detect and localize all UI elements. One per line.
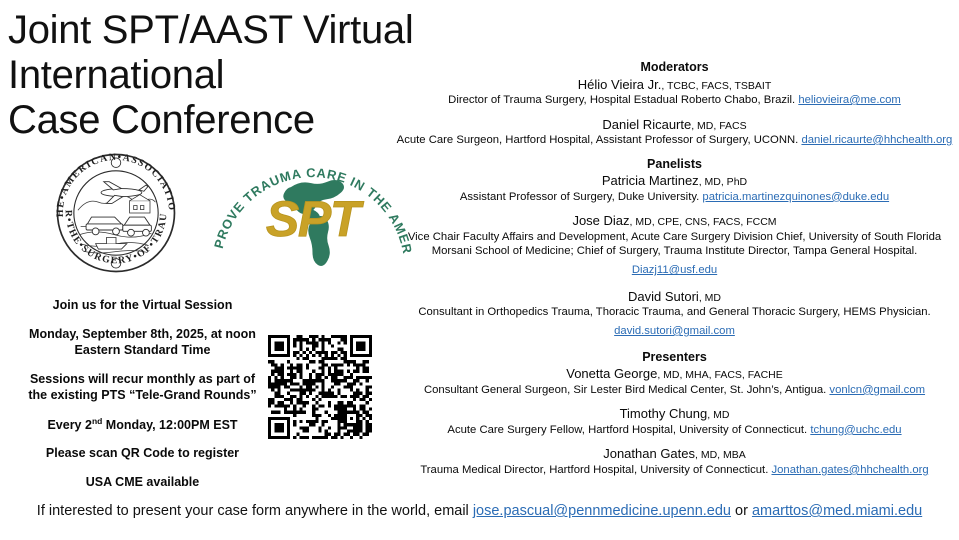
person-name: Daniel Ricaurte, MD, FACS [390, 117, 959, 133]
person-entry: Timothy Chung, MDAcute Care Surgery Fell… [390, 406, 959, 437]
page-title: Joint SPT/AAST Virtual International Cas… [8, 8, 428, 142]
spt-wordmark: SPT [266, 191, 365, 247]
footer-email-2[interactable]: amarttos@med.miami.edu [752, 503, 922, 519]
svg-text:SPT: SPT [266, 191, 365, 247]
session-line-join: Join us for the Virtual Session [0, 297, 285, 314]
person-name: Vonetta George, MD, MHA, FACS, FACHE [390, 366, 959, 382]
person-credentials: , TCBC, FACS, TSBAIT [661, 80, 771, 92]
session-line-recurrence-note: Sessions will recur monthly as part of t… [0, 371, 285, 404]
footer-separator: or [731, 503, 752, 519]
person-name: Hélio Vieira Jr., TCBC, FACS, TSBAIT [390, 77, 959, 93]
person-entry: Hélio Vieira Jr., TCBC, FACS, TSBAITDire… [390, 77, 959, 108]
spt-logo: TO IMPROVE TRAUMA CARE IN THE AMERICAS S… [210, 152, 415, 267]
aast-seal-logo: THE•AMERICAN•ASSOCIATION• •FOR•THE•SURGE… [48, 145, 184, 281]
person-entry: Jonathan Gates, MD, MBATrauma Medical Di… [390, 446, 959, 477]
logo-row: THE•AMERICAN•ASSOCIATION• •FOR•THE•SURGE… [30, 140, 390, 290]
person-email-link[interactable]: david.sutori@gmail.com [614, 325, 735, 337]
person-entry: Daniel Ricaurte, MD, FACSAcute Care Surg… [390, 117, 959, 148]
person-name-text: Patricia Martinez [602, 173, 699, 188]
session-line-qr-instruction: Please scan QR Code to register [0, 445, 285, 462]
person-name-text: Jonathan Gates [603, 446, 695, 461]
session-info-block: Join us for the Virtual Session Monday, … [0, 297, 285, 490]
person-affiliation: Acute Care Surgeon, Hartford Hospital, A… [390, 133, 959, 148]
person-email-link[interactable]: Diazj11@usf.edu [632, 264, 717, 276]
person-credentials: , MD [707, 409, 729, 421]
session-line-cme: USA CME available [0, 474, 285, 491]
person-name-text: Jose Diaz [572, 213, 629, 228]
person-name: David Sutori, MD [390, 289, 959, 305]
footer-cta: If interested to present your case form … [0, 503, 959, 520]
person-entry: Vonetta George, MD, MHA, FACS, FACHECons… [390, 366, 959, 397]
person-affiliation: Acute Care Surgery Fellow, Hartford Hosp… [390, 423, 959, 438]
person-entry: David Sutori, MDConsultant in Orthopedic… [390, 289, 959, 341]
person-affiliation: Morsani School of Medicine; Chief of Sur… [390, 244, 959, 259]
person-affiliation: Consultant General Surgeon, Sir Lester B… [390, 383, 959, 398]
person-credentials: , MD [699, 292, 721, 304]
person-email-link[interactable]: Jonathan.gates@hhchealth.org [771, 464, 928, 476]
person-email-link[interactable]: tchung@uchc.edu [810, 424, 901, 436]
person-credentials: , MD, FACS [691, 120, 746, 132]
person-credentials: , MD, CPE, CNS, FACS, FCCM [630, 216, 777, 228]
section-heading-presenters: Presenters [390, 350, 959, 366]
person-name: Jonathan Gates, MD, MBA [390, 446, 959, 462]
recurrence-ordinal-suffix: nd [92, 416, 102, 426]
person-email-link[interactable]: daniel.ricaurte@hhchealth.org [801, 134, 952, 146]
person-email-line: david.sutori@gmail.com [390, 320, 959, 341]
person-email-link[interactable]: vonlcn@gmail.com [829, 384, 925, 396]
person-name: Timothy Chung, MD [390, 406, 959, 422]
person-affiliation: Trauma Medical Director, Hartford Hospit… [390, 463, 959, 478]
person-name-text: David Sutori [628, 289, 699, 304]
footer-email-1[interactable]: jose.pascual@pennmedicine.upenn.edu [473, 503, 731, 519]
recurrence-prefix: Every 2 [47, 418, 91, 432]
person-name-text: Hélio Vieira Jr. [578, 77, 662, 92]
person-affiliation: Vice Chair Faculty Affairs and Developme… [390, 230, 959, 245]
person-email-line: Diazj11@usf.edu [390, 259, 959, 280]
person-credentials: , MD, MBA [695, 449, 746, 461]
person-email-link[interactable]: heliovieira@me.com [798, 94, 901, 106]
person-name: Jose Diaz, MD, CPE, CNS, FACS, FCCM [390, 213, 959, 229]
person-credentials: , MD, MHA, FACS, FACHE [657, 369, 782, 381]
recurrence-suffix: Monday, 12:00PM EST [102, 418, 237, 432]
section-heading-panelists: Panelists [390, 157, 959, 173]
person-name-text: Daniel Ricaurte [602, 117, 691, 132]
session-line-every-2nd-monday: Every 2nd Monday, 12:00PM EST [0, 416, 285, 434]
person-name-text: Vonetta George [566, 366, 657, 381]
person-entry: Jose Diaz, MD, CPE, CNS, FACS, FCCMVice … [390, 213, 959, 280]
person-credentials: , MD, PhD [699, 176, 747, 188]
people-column: ModeratorsHélio Vieira Jr., TCBC, FACS, … [390, 60, 959, 478]
section-heading-moderators: Moderators [390, 60, 959, 76]
person-name: Patricia Martinez, MD, PhD [390, 173, 959, 189]
person-affiliation: Consultant in Orthopedics Trauma, Thorac… [390, 305, 959, 320]
person-affiliation: Assistant Professor of Surgery, Duke Uni… [390, 190, 959, 205]
person-email-link[interactable]: patricia.martinezquinones@duke.edu [702, 191, 889, 203]
person-name-text: Timothy Chung [620, 406, 708, 421]
footer-text: If interested to present your case form … [37, 503, 473, 519]
person-entry: Patricia Martinez, MD, PhDAssistant Prof… [390, 173, 959, 204]
session-line-datetime: Monday, September 8th, 2025, at noon Eas… [0, 326, 285, 359]
qr-code[interactable] [268, 333, 372, 441]
person-affiliation: Director of Trauma Surgery, Hospital Est… [390, 93, 959, 108]
